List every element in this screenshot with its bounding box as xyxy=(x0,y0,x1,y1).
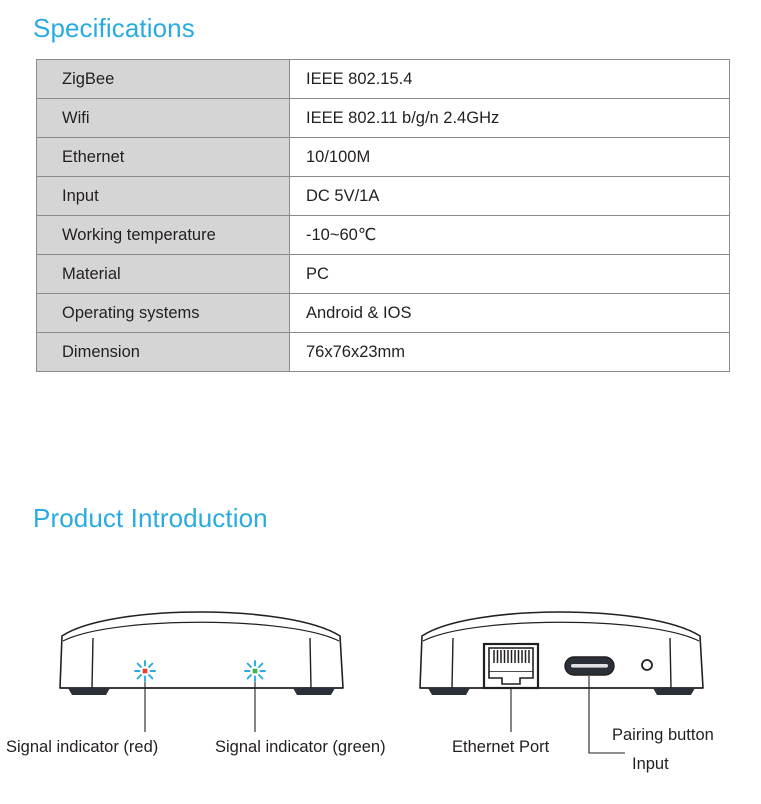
callout-ethernet-port: Ethernet Port xyxy=(452,738,549,757)
pairing-button-icon[interactable] xyxy=(642,660,652,670)
spec-key-input: Input xyxy=(37,177,290,216)
callout-input: Input xyxy=(632,755,669,774)
device-foot-left xyxy=(428,688,470,695)
table-row: Wifi IEEE 802.11 b/g/n 2.4GHz xyxy=(37,99,730,138)
spec-value-working-temperature: -10~60℃ xyxy=(290,216,730,255)
device-foot-right xyxy=(653,688,695,695)
table-row: Ethernet 10/100M xyxy=(37,138,730,177)
callout-signal-indicator-green: Signal indicator (green) xyxy=(215,738,386,757)
usb-c-port-icon xyxy=(565,657,614,675)
spec-key-material: Material xyxy=(37,255,290,294)
led-indicator-green-icon xyxy=(245,661,265,681)
table-row: Material PC xyxy=(37,255,730,294)
spec-key-wifi: Wifi xyxy=(37,99,290,138)
specifications-heading: Specifications xyxy=(33,13,195,44)
spec-value-zigbee: IEEE 802.15.4 xyxy=(290,60,730,99)
spec-value-wifi: IEEE 802.11 b/g/n 2.4GHz xyxy=(290,99,730,138)
specifications-table: ZigBee IEEE 802.15.4 Wifi IEEE 802.11 b/… xyxy=(36,59,730,372)
spec-value-ethernet: 10/100M xyxy=(290,138,730,177)
device-front-diagram xyxy=(60,612,343,695)
spec-key-working-temperature: Working temperature xyxy=(37,216,290,255)
product-introduction-heading: Product Introduction xyxy=(33,503,268,534)
callout-pairing-button: Pairing button xyxy=(612,726,714,745)
device-foot-left xyxy=(68,688,110,695)
device-rear-diagram xyxy=(420,612,703,695)
spec-key-zigbee: ZigBee xyxy=(37,60,290,99)
spec-value-input: DC 5V/1A xyxy=(290,177,730,216)
table-row: ZigBee IEEE 802.15.4 xyxy=(37,60,730,99)
table-row: Operating systems Android & IOS xyxy=(37,294,730,333)
spec-value-dimension: 76x76x23mm xyxy=(290,333,730,372)
spec-key-ethernet: Ethernet xyxy=(37,138,290,177)
table-row: Working temperature -10~60℃ xyxy=(37,216,730,255)
spec-key-operating-systems: Operating systems xyxy=(37,294,290,333)
spec-key-dimension: Dimension xyxy=(37,333,290,372)
callout-signal-indicator-red: Signal indicator (red) xyxy=(6,738,158,757)
spec-value-operating-systems: Android & IOS xyxy=(290,294,730,333)
table-row: Dimension 76x76x23mm xyxy=(37,333,730,372)
spec-value-material: PC xyxy=(290,255,730,294)
device-foot-right xyxy=(293,688,335,695)
table-row: Input DC 5V/1A xyxy=(37,177,730,216)
ethernet-port-icon xyxy=(484,644,538,688)
specifications-table-body: ZigBee IEEE 802.15.4 Wifi IEEE 802.11 b/… xyxy=(37,60,730,372)
led-indicator-red-icon xyxy=(135,661,155,681)
